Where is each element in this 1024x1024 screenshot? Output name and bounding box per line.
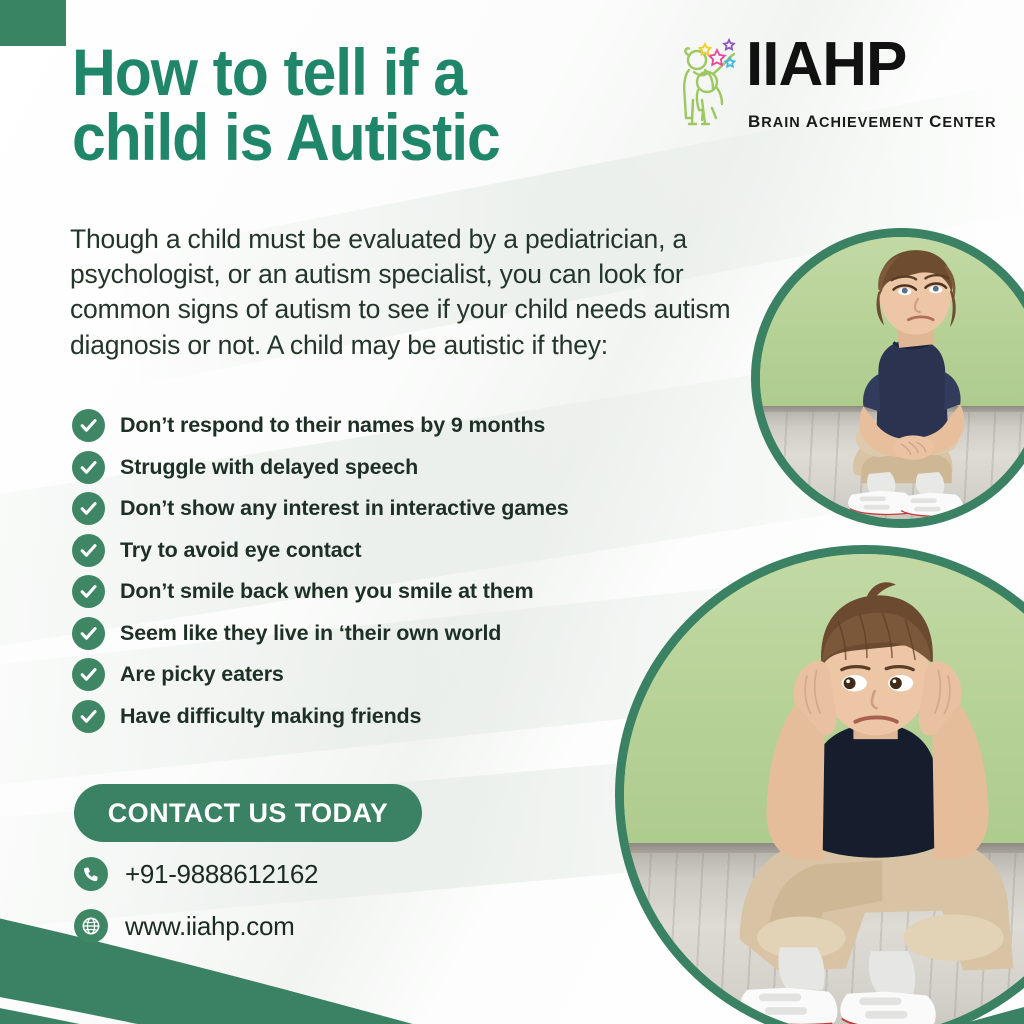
- check-circle-icon: [72, 409, 105, 442]
- list-item: Don’t respond to their names by 9 months: [72, 405, 712, 447]
- list-item: Don’t show any interest in interactive g…: [72, 488, 712, 530]
- list-item-label: Don’t smile back when you smile at them: [120, 579, 534, 604]
- contact-phone-row[interactable]: +91-9888612162: [74, 857, 318, 891]
- page-title: How to tell if a child is Autistic: [72, 40, 624, 169]
- list-item-label: Are picky eaters: [120, 662, 284, 687]
- check-circle-icon: [72, 700, 105, 733]
- phone-icon: [74, 857, 108, 891]
- check-circle-icon: [72, 492, 105, 525]
- phone-number: +91-9888612162: [125, 859, 318, 890]
- contact-info: +91-9888612162 www.iiahp.com: [74, 857, 318, 961]
- check-circle-icon: [72, 617, 105, 650]
- photo-boy-looking-up: [751, 228, 1024, 528]
- list-item-label: Don’t respond to their names by 9 months: [120, 413, 545, 438]
- website-url: www.iiahp.com: [125, 911, 295, 942]
- intro-paragraph: Though a child must be evaluated by a pe…: [70, 222, 735, 363]
- list-item: Don’t smile back when you smile at them: [72, 571, 712, 613]
- list-item-label: Try to avoid eye contact: [120, 538, 361, 563]
- list-item-label: Have difficulty making friends: [120, 704, 421, 729]
- signs-list: Don’t respond to their names by 9 months…: [72, 405, 712, 737]
- brand-logo[interactable]: IIAHP BRAIN ACHIEVEMENT CENTER: [672, 30, 1002, 142]
- list-item: Struggle with delayed speech: [72, 447, 712, 489]
- logo-wordmark: IIAHP: [746, 34, 906, 96]
- check-circle-icon: [72, 658, 105, 691]
- list-item: Seem like they live in ‘their own world: [72, 613, 712, 655]
- list-item: Have difficulty making friends: [72, 696, 712, 738]
- list-item-label: Seem like they live in ‘their own world: [120, 621, 501, 646]
- parent-child-stars-icon: [672, 32, 744, 132]
- check-circle-icon: [72, 575, 105, 608]
- contact-website-row[interactable]: www.iiahp.com: [74, 909, 318, 943]
- list-item: Try to avoid eye contact: [72, 530, 712, 572]
- check-circle-icon: [72, 534, 105, 567]
- photo-child-covering-ears: [615, 545, 1024, 1024]
- logo-tagline: BRAIN ACHIEVEMENT CENTER: [748, 112, 997, 132]
- infographic-poster: How to tell if a child is Autistic: [0, 0, 1024, 1024]
- list-item: Are picky eaters: [72, 654, 712, 696]
- check-circle-icon: [72, 451, 105, 484]
- list-item-label: Struggle with delayed speech: [120, 455, 418, 480]
- corner-accent-block: [0, 0, 66, 46]
- list-item-label: Don’t show any interest in interactive g…: [120, 496, 569, 521]
- globe-icon: [74, 909, 108, 943]
- contact-us-button[interactable]: CONTACT US TODAY: [74, 784, 422, 842]
